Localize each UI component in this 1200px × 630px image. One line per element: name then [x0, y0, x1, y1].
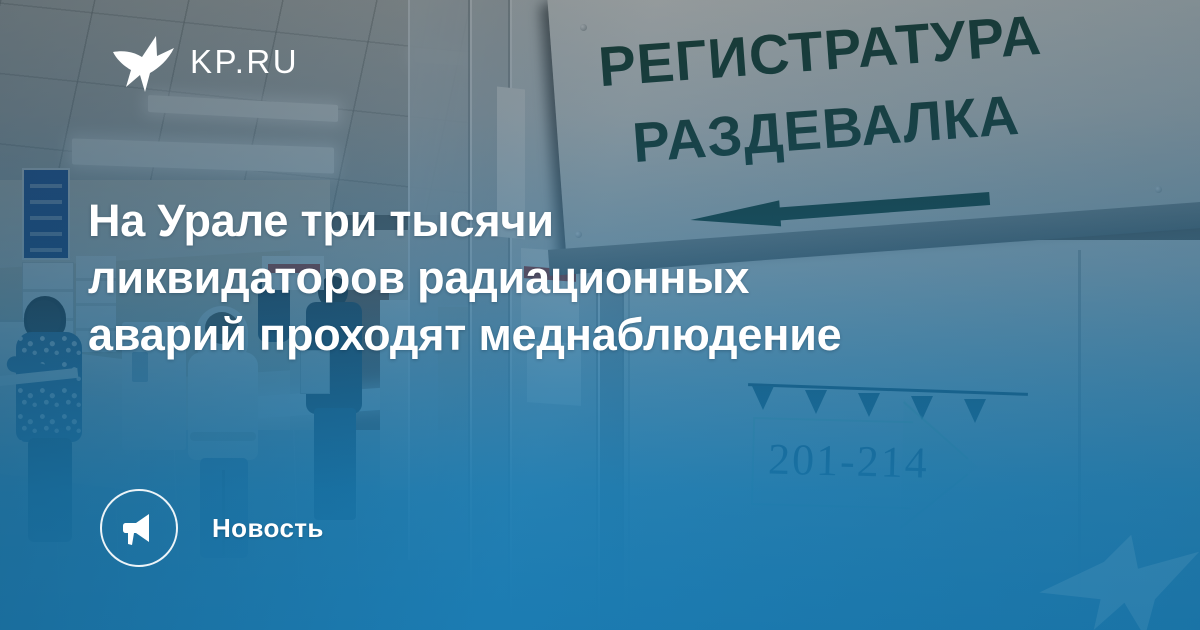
brand-name: KP.RU	[190, 43, 299, 81]
headline: На Урале три тысячи ликвидаторов радиаци…	[88, 192, 1088, 363]
badge-icon-circle	[100, 489, 178, 567]
swallow-bird-icon	[112, 30, 176, 94]
megaphone-icon	[119, 508, 159, 548]
content-type-badge: Новость	[100, 489, 324, 567]
brand-logo[interactable]: KP.RU	[112, 30, 299, 94]
swallow-bird-watermark-icon	[1036, 524, 1200, 630]
article-share-card: 201-214 РЕГИСТРАТУРА РАЗДЕВАЛКА KP.RU На…	[0, 0, 1200, 630]
headline-line-3: аварий проходят меднаблюдение	[88, 306, 1088, 363]
headline-line-1: На Урале три тысячи	[88, 192, 1088, 249]
badge-label: Новость	[212, 513, 324, 544]
headline-line-2: ликвидаторов радиационных	[88, 249, 1088, 306]
